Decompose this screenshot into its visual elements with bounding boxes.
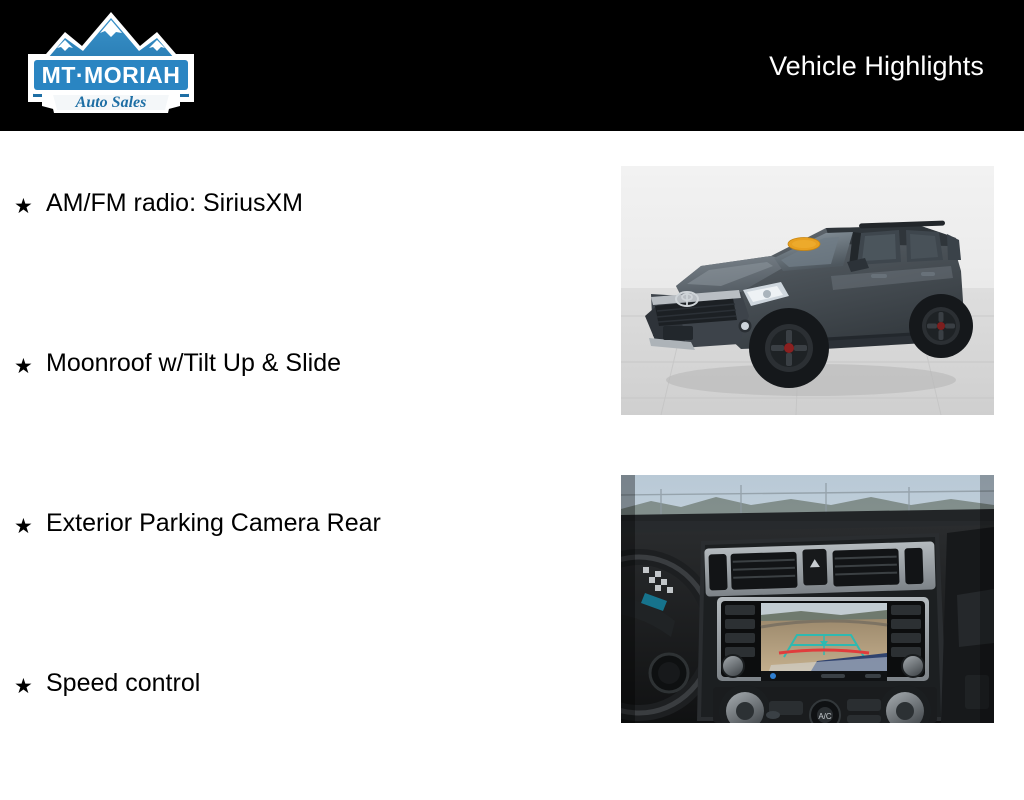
list-item: ★ Exterior Parking Camera Rear <box>0 480 600 640</box>
feature-label: Moonroof w/Tilt Up & Slide <box>46 350 341 378</box>
star-bullet-icon: ★ <box>14 676 33 697</box>
list-item: ★ AM/FM radio: SiriusXM <box>0 160 600 320</box>
logo-script-text: Auto Sales <box>75 94 147 111</box>
feature-label: Exterior Parking Camera Rear <box>46 510 381 538</box>
star-bullet-icon: ★ <box>14 356 33 377</box>
dashboard-backup-camera-photo: A/C <box>621 475 994 723</box>
star-bullet-icon: ★ <box>14 516 33 537</box>
page-title: Vehicle Highlights <box>769 51 984 82</box>
list-item: ★ Moonroof w/Tilt Up & Slide <box>0 320 600 480</box>
mt-moriah-auto-sales-logo: MT·MORIAH Auto Sales <box>16 6 206 128</box>
vehicle-exterior-photo <box>621 166 994 415</box>
feature-label: Speed control <box>46 670 200 698</box>
logo-primary-text: MT·MORIAH <box>42 62 181 88</box>
page-header: MT·MORIAH Auto Sales Vehicle Highlights <box>0 0 1024 131</box>
list-item: ★ Speed control <box>0 640 600 800</box>
star-bullet-icon: ★ <box>14 196 33 217</box>
feature-label: AM/FM radio: SiriusXM <box>46 190 303 218</box>
svg-text:A/C: A/C <box>818 712 832 721</box>
vehicle-highlights-list: ★ AM/FM radio: SiriusXM ★ Moonroof w/Til… <box>0 160 600 800</box>
